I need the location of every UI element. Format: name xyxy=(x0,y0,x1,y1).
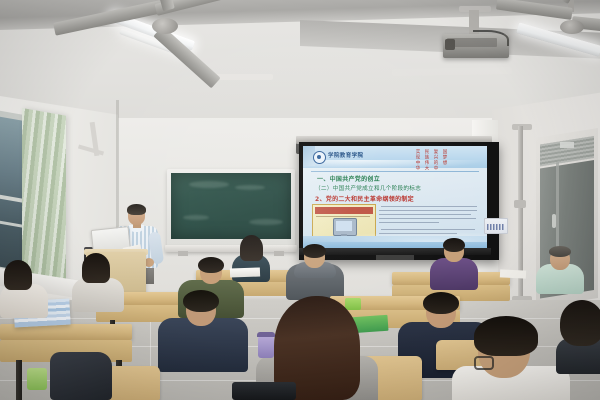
window-curtain[interactable] xyxy=(22,108,66,284)
chalk-tray-bracket xyxy=(274,251,284,256)
student-torso xyxy=(158,318,248,372)
slide-monitor-screen xyxy=(336,221,352,231)
transom-sign xyxy=(560,142,574,148)
student-hair xyxy=(443,238,465,252)
green-object[interactable] xyxy=(27,368,47,390)
slide-divider xyxy=(311,171,479,172)
fan-hub xyxy=(560,20,584,34)
slide-logo-dot-icon xyxy=(317,155,321,159)
slide-red-column-text: 国梦想 xyxy=(442,149,447,166)
student-purple-shirt xyxy=(430,240,478,288)
student-hair xyxy=(423,292,459,314)
classroom-photo: 学院教育学院 实现中华 民族伟大 复兴的中 国梦想 一、中国共产党的创立 （二）… xyxy=(0,0,600,400)
pipe-joint xyxy=(514,200,526,208)
student-head xyxy=(560,300,600,346)
chalkboard xyxy=(171,173,291,239)
eyeglasses-icon xyxy=(474,356,494,370)
ceiling-fan-left xyxy=(60,0,260,64)
student-hair xyxy=(549,246,571,257)
slide-header-wave xyxy=(303,160,487,170)
slide-red-column-text: 民族伟大 xyxy=(424,149,429,171)
slide-heading-1: 一、中国共产党的创立 xyxy=(317,174,380,183)
door-handle[interactable] xyxy=(552,214,556,228)
slide-heading-3: 2、党的二大和民主革命纲领的制定 xyxy=(315,194,414,203)
control-panel-switches-icon xyxy=(487,224,505,230)
black-backpack[interactable] xyxy=(50,352,112,400)
student-torso xyxy=(430,258,478,290)
slide-organization-name: 学院教育学院 xyxy=(328,151,363,159)
projected-slide: 学院教育学院 实现中华 民族伟大 复兴的中 国梦想 一、中国共产党的创立 （二）… xyxy=(303,146,487,248)
projector-lens-icon xyxy=(445,39,455,50)
student-gray-hoodie xyxy=(286,246,344,298)
slide-heading-2: （二）中国共产党成立和几个阶段的标志 xyxy=(315,184,421,192)
student-hair xyxy=(474,316,538,356)
student-far-right xyxy=(556,300,600,370)
student-front-left-2 xyxy=(72,256,124,308)
ceiling-fan-right xyxy=(524,0,600,52)
wall-control-panel[interactable] xyxy=(484,218,508,234)
fan-blade xyxy=(53,0,163,36)
purple-thermos-cup[interactable] xyxy=(258,336,274,358)
chalk-tray-bracket xyxy=(178,251,188,256)
student-front-left xyxy=(0,262,48,314)
slide-image-banner xyxy=(315,207,373,214)
student-hair xyxy=(198,257,224,273)
projector-cables xyxy=(473,30,509,46)
dark-tablet[interactable] xyxy=(232,382,296,400)
student-back-right xyxy=(536,248,584,292)
screen-stand xyxy=(376,255,414,260)
student-hair xyxy=(240,235,263,261)
student-hair xyxy=(303,244,326,258)
slide-red-column-text: 实现中华 xyxy=(415,149,420,171)
slide-red-column-text: 复兴的中 xyxy=(433,149,438,171)
paper-on-desk[interactable] xyxy=(500,269,526,278)
instructor-hair xyxy=(127,204,146,215)
student-hair xyxy=(4,260,32,290)
thermos-lid xyxy=(257,332,275,337)
student-hair xyxy=(82,253,110,283)
student-navy-jacket xyxy=(158,294,248,368)
student-hair xyxy=(183,290,219,312)
ceiling-projector xyxy=(443,28,509,58)
student-front-right xyxy=(452,322,570,400)
student-torso xyxy=(72,278,124,312)
fan-hub xyxy=(152,18,178,34)
